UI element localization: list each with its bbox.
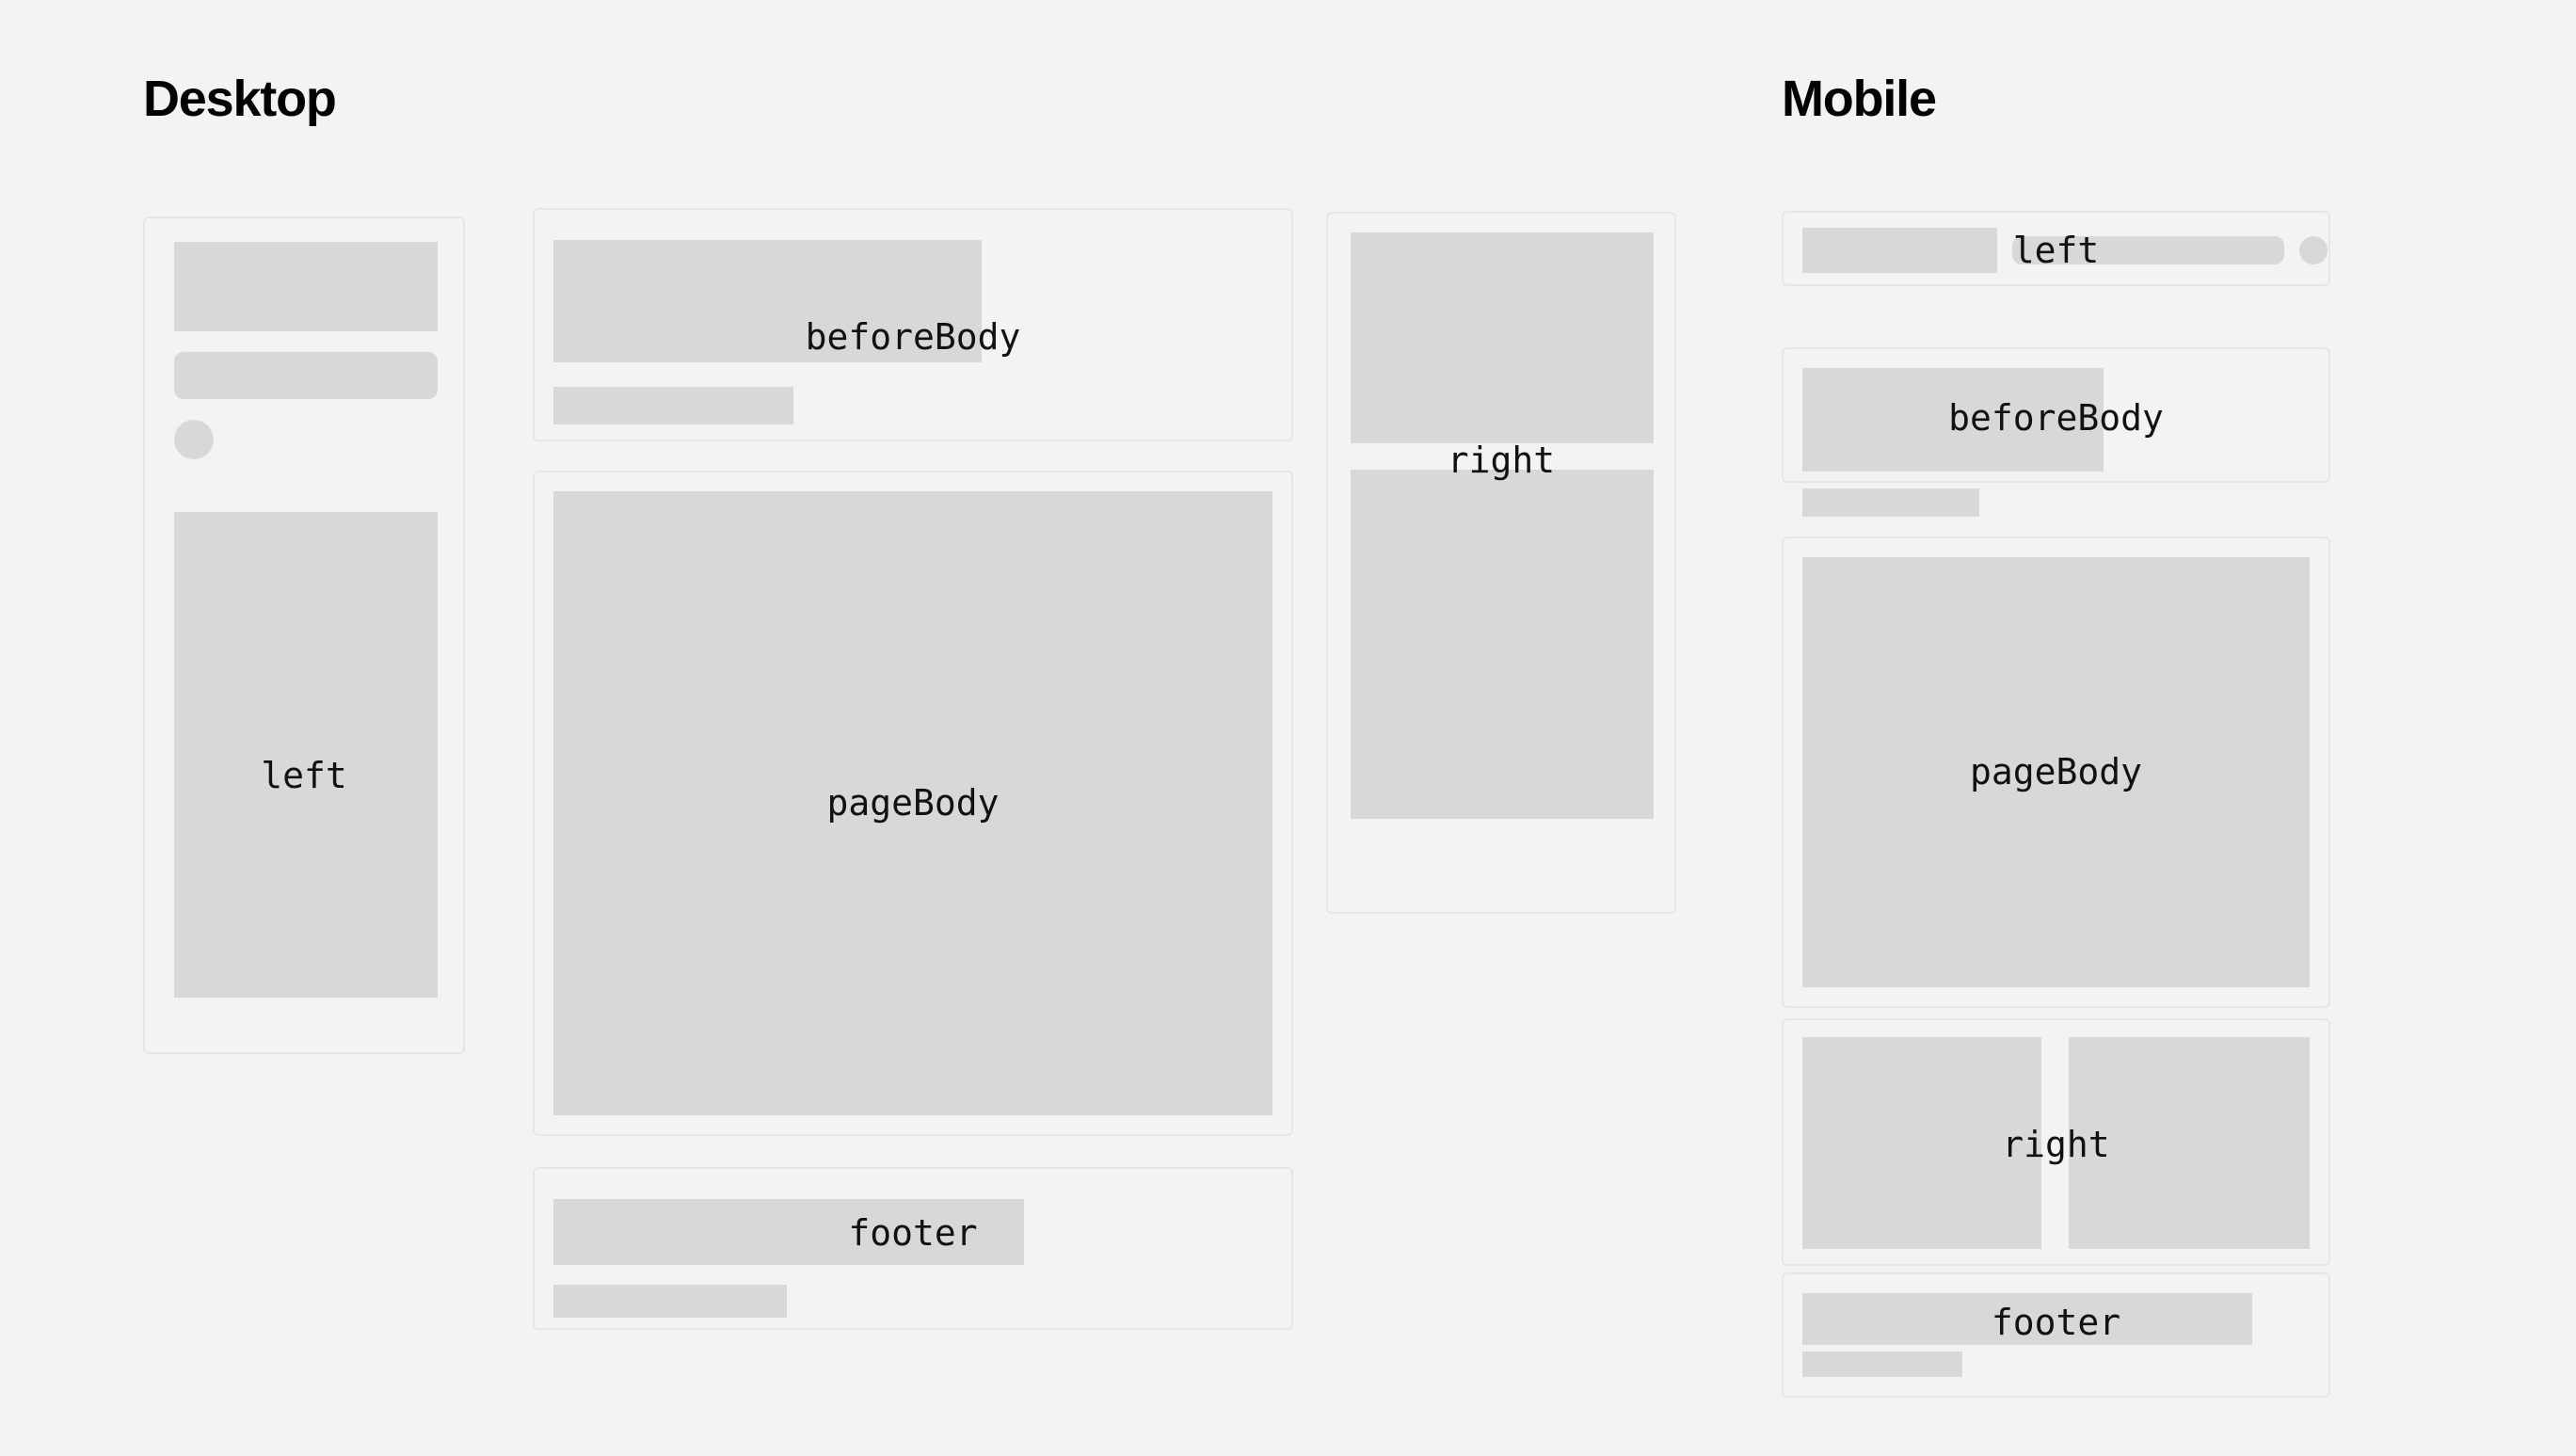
placeholder-block	[553, 1285, 787, 1318]
placeholder-block	[1802, 557, 2310, 987]
placeholder-block	[1802, 1037, 2041, 1249]
placeholder-block	[2069, 1037, 2310, 1249]
placeholder-block	[1802, 1352, 1962, 1377]
wireframe-canvas: Desktop Mobile left beforeBody pageBody …	[0, 0, 2576, 1456]
placeholder-block	[1802, 488, 1979, 517]
desktop-left-panel[interactable]: left	[143, 216, 465, 1054]
desktop-section-title: Desktop	[143, 73, 336, 124]
placeholder-block	[553, 1199, 1024, 1265]
placeholder-block	[553, 491, 1272, 1115]
mobile-section-title: Mobile	[1782, 73, 1936, 124]
mobile-before-body-panel[interactable]: beforeBody	[1782, 347, 2330, 483]
mobile-footer-panel[interactable]: footer	[1782, 1272, 2330, 1398]
placeholder-block	[174, 242, 438, 331]
desktop-footer-panel[interactable]: footer	[533, 1167, 1293, 1330]
desktop-right-panel[interactable]: right	[1326, 212, 1676, 914]
avatar-circle-icon	[174, 420, 214, 459]
placeholder-block	[174, 512, 438, 998]
desktop-before-body-panel[interactable]: beforeBody	[533, 208, 1293, 441]
mobile-right-panel[interactable]: right	[1782, 1018, 2330, 1266]
placeholder-block	[1802, 228, 1997, 273]
placeholder-block	[1802, 368, 2104, 472]
placeholder-block	[174, 352, 438, 399]
placeholder-block	[2012, 236, 2284, 264]
placeholder-block	[1351, 470, 1654, 819]
desktop-page-body-panel[interactable]: pageBody	[533, 471, 1293, 1136]
placeholder-block	[1802, 1293, 2252, 1345]
mobile-left-panel[interactable]: left	[1782, 211, 2330, 286]
placeholder-block	[1351, 232, 1654, 443]
placeholder-block	[553, 387, 793, 424]
placeholder-block	[553, 240, 982, 362]
mobile-page-body-panel[interactable]: pageBody	[1782, 536, 2330, 1008]
avatar-circle-icon	[2299, 236, 2328, 264]
